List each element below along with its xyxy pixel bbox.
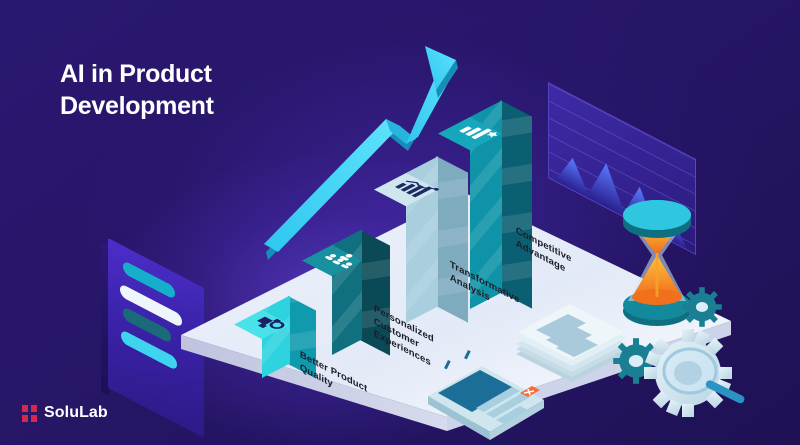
gears-magnifier-icon [640,285,800,435]
bar-side [436,156,468,323]
brand-name: SoluLab [44,404,108,422]
infographic-canvas: Better Product Quality Personalized Cust… [0,0,800,445]
title-line-2: Development [60,90,360,122]
page-title: AI in Product Development [60,58,360,122]
bar-side [500,100,532,309]
solulab-mark-icon [22,405,37,422]
brand-logo[interactable]: SoluLab [22,404,108,422]
calculator-icon [424,348,549,443]
title-line-1: AI in Product [60,60,212,88]
